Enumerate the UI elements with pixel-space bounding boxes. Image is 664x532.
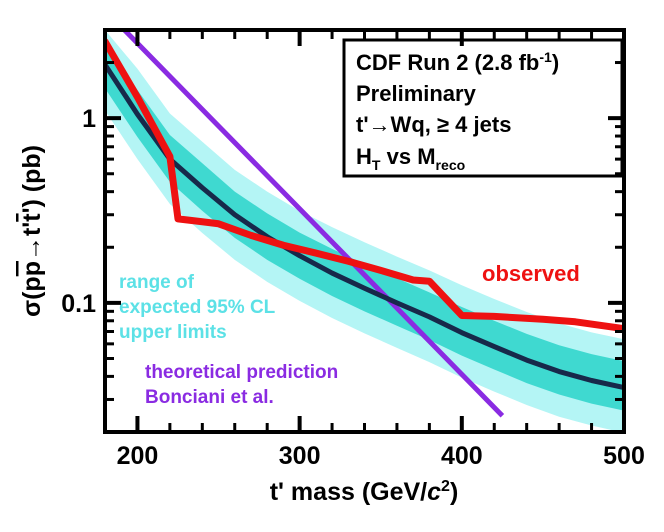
chart-svg: range of expected 95% CL upper limits th…: [0, 0, 664, 532]
anno-expected-line2: expected 95% CL: [119, 297, 276, 318]
x-tick-label: 400: [441, 442, 483, 470]
x-tick-label: 200: [117, 442, 159, 470]
legend-line-3: t'→Wq, ≥ 4 jets: [356, 112, 511, 137]
x-axis-title: t' mass (GeV/c2): [270, 478, 459, 506]
anno-observed-label: observed: [482, 261, 580, 286]
physics-exclusion-limit-plot: range of expected 95% CL upper limits th…: [0, 0, 664, 532]
anno-expected-line1: range of: [119, 272, 195, 293]
svg-text:σ(pp→t't') (pb): σ(pp→t't') (pb): [18, 145, 46, 317]
anno-expected-line3: upper limits: [119, 322, 227, 343]
anno-theory-line2: Bonciani et al.: [145, 387, 274, 408]
y-tick-label: 1: [82, 105, 96, 133]
legend-box: CDF Run 2 (2.8 fb-1) Preliminary t'→Wq, …: [344, 40, 622, 176]
y-tick-label: 0.1: [61, 290, 96, 318]
anno-theory-line1: theoretical prediction: [145, 362, 338, 383]
x-tick-label: 300: [279, 442, 321, 470]
y-axis-title: σ(pp→t't') (pb): [18, 145, 46, 317]
legend-line-1: CDF Run 2 (2.8 fb-1): [356, 49, 559, 75]
x-tick-label: 500: [603, 442, 645, 470]
legend-line-2: Preliminary: [356, 81, 477, 106]
